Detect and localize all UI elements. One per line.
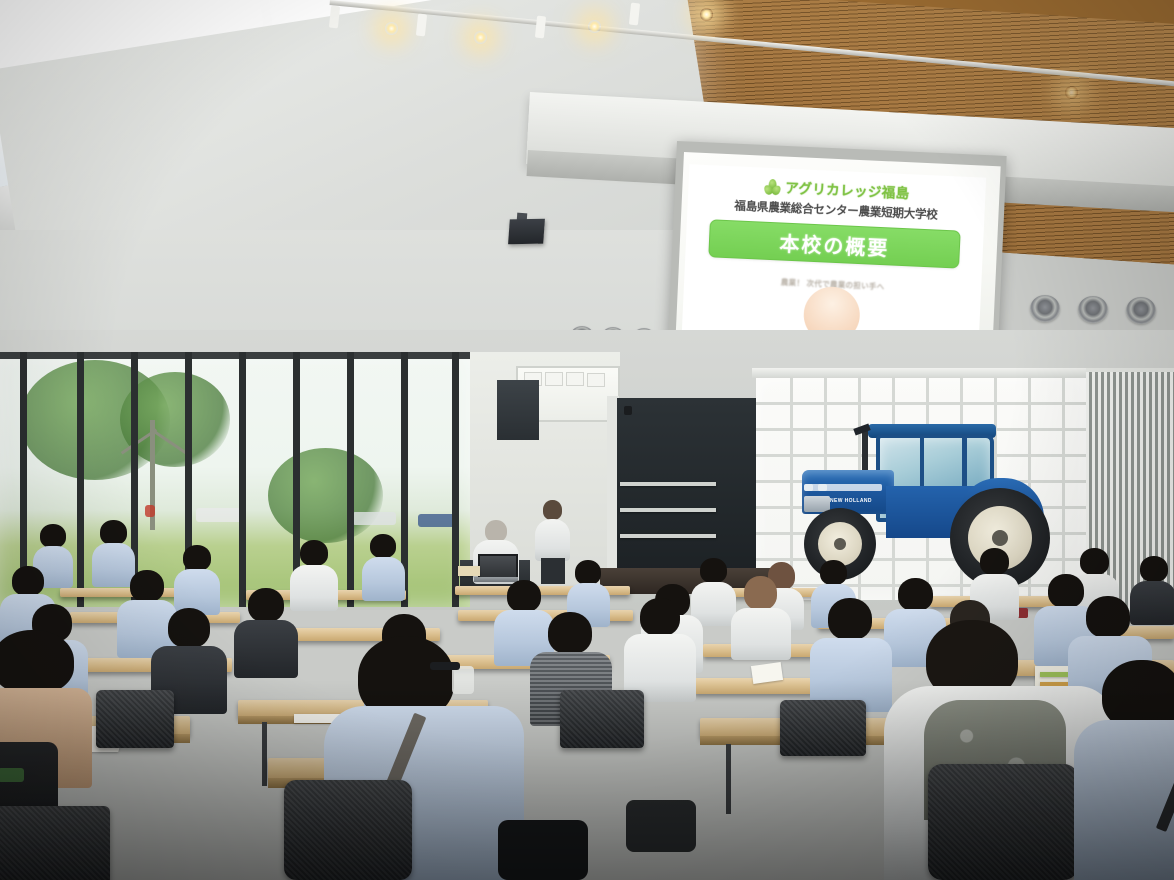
head xyxy=(1048,574,1084,608)
tractor-brand-text: NEW HOLLAND xyxy=(830,498,872,504)
slide-title-row: アグリカレッジ福島 xyxy=(764,176,910,203)
parked-car xyxy=(145,505,155,517)
window-mullion xyxy=(239,352,246,607)
head xyxy=(700,558,727,583)
alcove-shelf xyxy=(620,534,716,538)
head xyxy=(12,566,44,596)
ceiling-diffuser xyxy=(1030,295,1060,322)
lecture-hall-photo: アグリカレッジ福島 福島県農業総合センター農業短期大学校 本校の概要 農業！ 次… xyxy=(0,0,1174,880)
track-light-bulb xyxy=(588,20,601,33)
bag xyxy=(626,800,696,852)
head xyxy=(0,630,74,694)
eyeglasses xyxy=(430,662,460,670)
parked-car xyxy=(196,508,244,522)
head xyxy=(898,578,933,611)
head xyxy=(168,608,210,648)
tractor-headlight xyxy=(818,484,827,491)
wall-poster xyxy=(587,373,605,387)
head xyxy=(183,545,211,571)
table-leg xyxy=(262,722,267,786)
head xyxy=(130,570,164,602)
head xyxy=(100,520,127,545)
parked-car xyxy=(352,512,396,525)
window-mullion xyxy=(347,352,354,607)
window-grid-line xyxy=(1062,378,1065,600)
head xyxy=(980,548,1009,575)
chair[interactable] xyxy=(780,700,866,756)
tree xyxy=(268,448,383,543)
presenter-torso xyxy=(535,519,570,561)
window-grid-line xyxy=(756,402,1086,405)
head xyxy=(820,560,847,585)
head xyxy=(40,524,66,548)
slide-banner-text: 本校の概要 xyxy=(779,227,890,261)
wall-poster xyxy=(566,372,584,386)
head xyxy=(744,576,777,610)
presenter-head xyxy=(543,500,562,520)
torso xyxy=(1130,581,1174,625)
window-mullion xyxy=(77,352,84,607)
slide-title: アグリカレッジ福島 xyxy=(785,177,910,203)
torso xyxy=(92,543,135,587)
presenter-head xyxy=(485,520,507,542)
head xyxy=(507,580,541,612)
tractor-headlight xyxy=(804,484,813,491)
presenter-trousers xyxy=(541,558,565,584)
track-light-bulb xyxy=(474,31,487,44)
track-light-bulb xyxy=(1065,86,1078,99)
window-head-rail xyxy=(0,352,470,359)
pa-speaker xyxy=(508,219,545,245)
head xyxy=(575,560,601,585)
torso xyxy=(731,608,791,660)
face-mask xyxy=(452,666,474,694)
ceiling-diffuser xyxy=(1078,296,1108,323)
track-light-bulb xyxy=(700,8,713,21)
laptop-base xyxy=(474,577,518,582)
bag-tag xyxy=(0,768,24,782)
head xyxy=(1140,556,1168,582)
chair[interactable] xyxy=(284,780,412,880)
tractor-rear-hub xyxy=(992,530,1008,546)
slide-banner: 本校の概要 xyxy=(708,219,961,268)
alcove-shelf xyxy=(620,508,716,512)
presentation-cabinet xyxy=(497,380,539,440)
track-light-bulb xyxy=(385,22,398,35)
chair[interactable] xyxy=(0,806,110,880)
chair[interactable] xyxy=(96,690,174,748)
chair[interactable] xyxy=(560,690,644,748)
head xyxy=(828,598,872,640)
tractor-front-hub xyxy=(834,538,846,550)
table-leg xyxy=(726,744,731,814)
torso xyxy=(1074,720,1174,880)
head xyxy=(1086,596,1130,638)
head xyxy=(370,534,396,558)
head xyxy=(300,540,328,566)
handout-paper xyxy=(458,566,480,576)
torso xyxy=(290,565,338,611)
standing-presenter xyxy=(533,500,573,580)
dark-alcove xyxy=(617,398,757,583)
head xyxy=(248,588,284,622)
torso xyxy=(362,557,405,601)
ceiling-diffuser xyxy=(1126,297,1156,324)
right-window-head xyxy=(752,368,1092,378)
alcove-shelf xyxy=(620,482,716,486)
head xyxy=(548,612,592,654)
trefoil-leaf-logo xyxy=(764,178,781,194)
backpack xyxy=(498,820,588,880)
head xyxy=(1080,548,1109,575)
torso xyxy=(234,620,298,678)
alcove-fixture xyxy=(624,406,632,415)
chair[interactable] xyxy=(928,764,1078,880)
wall-poster xyxy=(545,372,563,386)
head xyxy=(640,598,680,636)
